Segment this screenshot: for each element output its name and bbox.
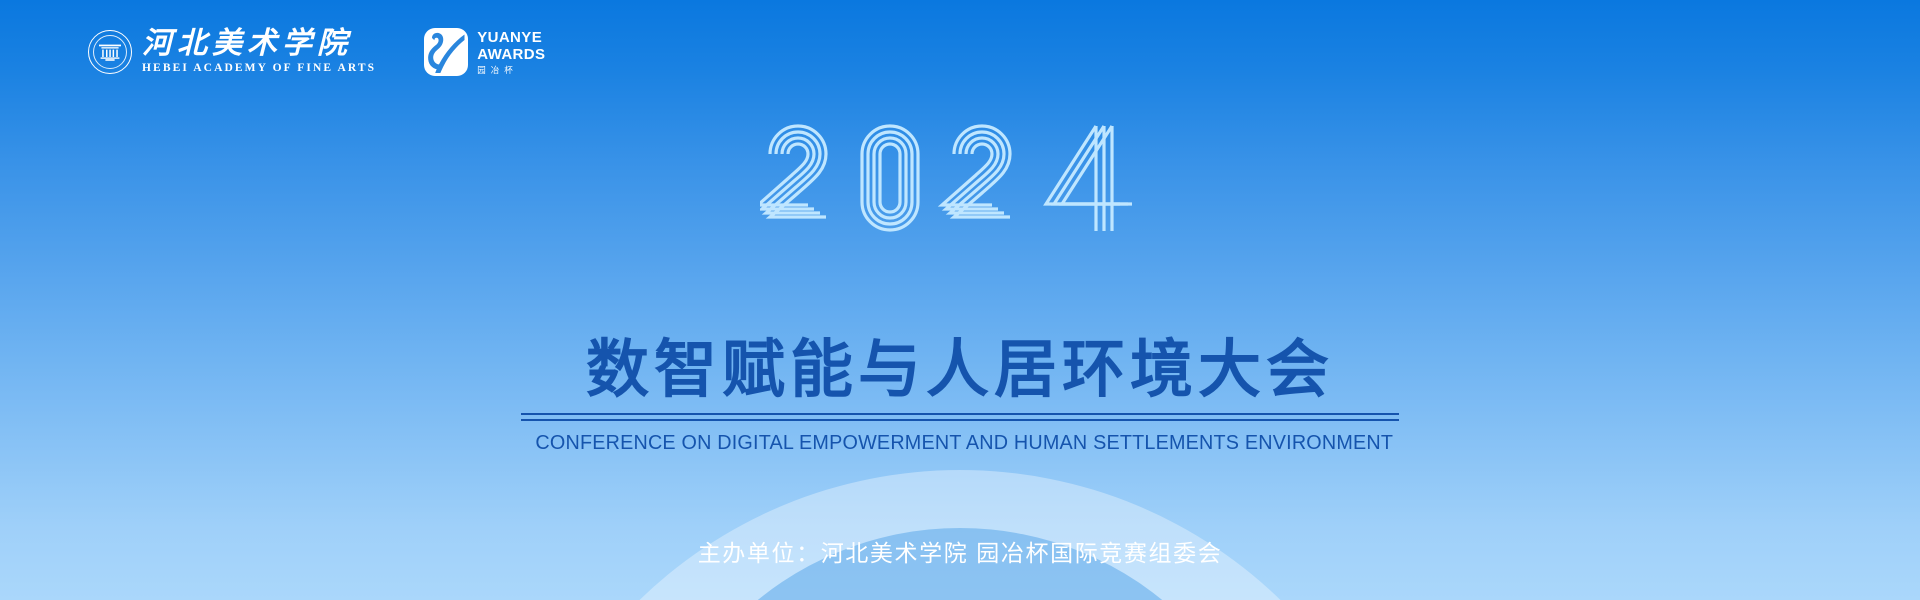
yuanye-line-1: YUANYE bbox=[477, 30, 545, 45]
hebei-name-cn: 河北美术学院 bbox=[142, 29, 376, 59]
year-2024-svg bbox=[760, 112, 1160, 247]
title-divider-line-1 bbox=[521, 413, 1399, 415]
hero-title-block: 数智赋能与人居环境大会 CONFERENCE ON DIGITAL EMPOWE… bbox=[520, 338, 1400, 454]
yuanye-line-2: AWARDS bbox=[477, 47, 545, 62]
page-title-cn: 数智赋能与人居环境大会 bbox=[520, 338, 1400, 402]
organiser-line: 主办单位：河北美术学院 园冶杯国际竞赛组委会 bbox=[698, 534, 1223, 568]
title-divider-line-2 bbox=[521, 419, 1399, 421]
conference-banner: 河北美术学院 HEBEI ACADEMY OF FINE ARTS YUANYE… bbox=[0, 0, 1920, 600]
yuanye-swan-mark-icon bbox=[424, 28, 468, 76]
title-divider bbox=[520, 413, 1400, 421]
hebei-academy-logo[interactable]: 河北美术学院 HEBEI ACADEMY OF FINE ARTS bbox=[88, 29, 376, 75]
yuanye-wordmark: YUANYE AWARDS 园冶杯 bbox=[477, 30, 545, 75]
logo-row: 河北美术学院 HEBEI ACADEMY OF FINE ARTS YUANYE… bbox=[88, 28, 545, 76]
hebei-academy-wordmark: 河北美术学院 HEBEI ACADEMY OF FINE ARTS bbox=[142, 29, 376, 75]
hebei-name-en: HEBEI ACADEMY OF FINE ARTS bbox=[142, 63, 376, 75]
year-graphic-2024 bbox=[760, 112, 1160, 247]
page-subtitle-en: CONFERENCE ON DIGITAL EMPOWERMENT AND HU… bbox=[535, 433, 1384, 454]
yuanye-awards-logo[interactable]: YUANYE AWARDS 园冶杯 bbox=[424, 28, 545, 76]
hebei-academy-seal-icon bbox=[88, 30, 132, 74]
yuanye-line-3-cn: 园冶杯 bbox=[477, 66, 545, 75]
